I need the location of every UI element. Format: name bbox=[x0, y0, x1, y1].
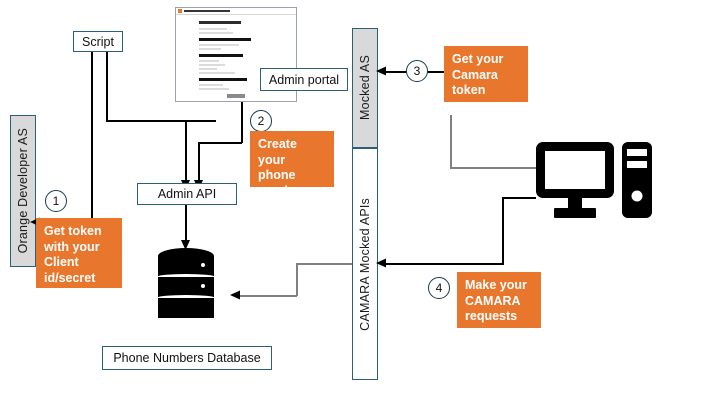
callout-step-2: Create your phone numbers bbox=[250, 131, 334, 187]
connector-script-to-admin-api-v1 bbox=[106, 51, 108, 121]
connector-camara-to-database-h2 bbox=[240, 295, 297, 297]
connector-script-to-admin-api-h bbox=[106, 120, 216, 122]
connector-script-to-orange-as-vertical bbox=[91, 51, 93, 223]
desktop-computer-icon bbox=[534, 138, 654, 222]
arrowhead-to-camara-lane bbox=[376, 256, 392, 272]
callout-step-2-line-3: numbers bbox=[258, 184, 326, 200]
screenshot-titlebar bbox=[176, 8, 296, 15]
callout-step-3-line-3: token bbox=[452, 83, 520, 99]
step-2-badge: 2 bbox=[250, 110, 272, 132]
connector-computer-to-step3-h bbox=[450, 167, 536, 169]
connector-portal-to-admin-api-v2 bbox=[198, 142, 200, 183]
screenshot-submit-button bbox=[227, 94, 245, 98]
lane-mocked-as: Mocked AS bbox=[352, 28, 378, 148]
database-cylinder-icon bbox=[158, 248, 214, 318]
lane-mocked-as-label: Mocked AS bbox=[358, 55, 372, 120]
connector-script-to-admin-api-v2 bbox=[185, 120, 187, 183]
lane-orange-developer-as-label: Orange Developer AS bbox=[16, 128, 30, 253]
step-4-number: 4 bbox=[436, 281, 443, 295]
node-admin-portal-label: Admin portal bbox=[269, 73, 339, 87]
callout-step-1-line-3: Client bbox=[44, 255, 114, 271]
screenshot-title-text bbox=[184, 10, 230, 12]
node-phone-numbers-database[interactable]: Phone Numbers Database bbox=[102, 346, 272, 370]
callout-step-1: Get token with your Client id/secret bbox=[36, 218, 122, 288]
step-4-badge: 4 bbox=[428, 277, 450, 299]
callout-step-1-line-2: with your bbox=[44, 240, 114, 256]
arrowhead-database-from-camara bbox=[230, 288, 246, 304]
orange-logo-icon bbox=[178, 9, 182, 13]
step-1-number: 1 bbox=[53, 194, 60, 208]
callout-step-3-line-2: Camara bbox=[452, 68, 520, 84]
callout-step-1-line-1: Get token bbox=[44, 224, 114, 240]
connector-camara-to-database-v bbox=[296, 263, 298, 296]
arrowhead-to-mocked-as bbox=[376, 64, 392, 80]
callout-step-2-line-1: Create your bbox=[258, 137, 326, 168]
callout-step-1-line-4: id/secret bbox=[44, 271, 114, 287]
connector-computer-to-camara-h bbox=[502, 197, 536, 199]
connector-step4-to-camara-v bbox=[502, 197, 504, 264]
callout-step-4-line-3: requests bbox=[465, 309, 533, 325]
callout-step-4-line-1: Make your bbox=[465, 278, 533, 294]
connector-step4-to-camara-h bbox=[386, 263, 504, 265]
connector-camara-to-database-h1 bbox=[296, 263, 352, 265]
connector-computer-to-step3-v bbox=[450, 115, 452, 168]
step-3-badge: 3 bbox=[406, 60, 428, 82]
node-script[interactable]: Script bbox=[73, 31, 123, 52]
step-3-number: 3 bbox=[414, 64, 421, 78]
connector-portal-to-admin-api-h bbox=[198, 142, 242, 144]
lane-orange-developer-as: Orange Developer AS bbox=[10, 115, 36, 267]
node-admin-api-label: Admin API bbox=[158, 187, 216, 201]
lane-camara-mocked-apis-label: CAMARA Mocked APIs bbox=[358, 198, 372, 331]
step-1-badge: 1 bbox=[45, 190, 67, 212]
callout-step-4: Make your CAMARA requests bbox=[457, 272, 541, 328]
connector-portal-to-admin-api-v1 bbox=[241, 101, 243, 143]
node-admin-api[interactable]: Admin API bbox=[137, 183, 237, 205]
desktop-computer-svg bbox=[534, 138, 654, 222]
node-admin-portal[interactable]: Admin portal bbox=[260, 68, 348, 91]
callout-step-2-line-2: phone bbox=[258, 168, 326, 184]
diagram-canvas: Orange Developer AS Mocked AS CAMARA Moc… bbox=[0, 0, 720, 405]
callout-step-3: Get your Camara token bbox=[444, 46, 528, 102]
lane-camara-mocked-apis: CAMARA Mocked APIs bbox=[352, 148, 378, 380]
step-2-number: 2 bbox=[258, 114, 265, 128]
callout-step-4-line-2: CAMARA bbox=[465, 294, 533, 310]
node-phone-numbers-database-label: Phone Numbers Database bbox=[113, 351, 260, 365]
node-script-label: Script bbox=[82, 35, 114, 49]
callout-step-3-line-1: Get your bbox=[452, 52, 520, 68]
